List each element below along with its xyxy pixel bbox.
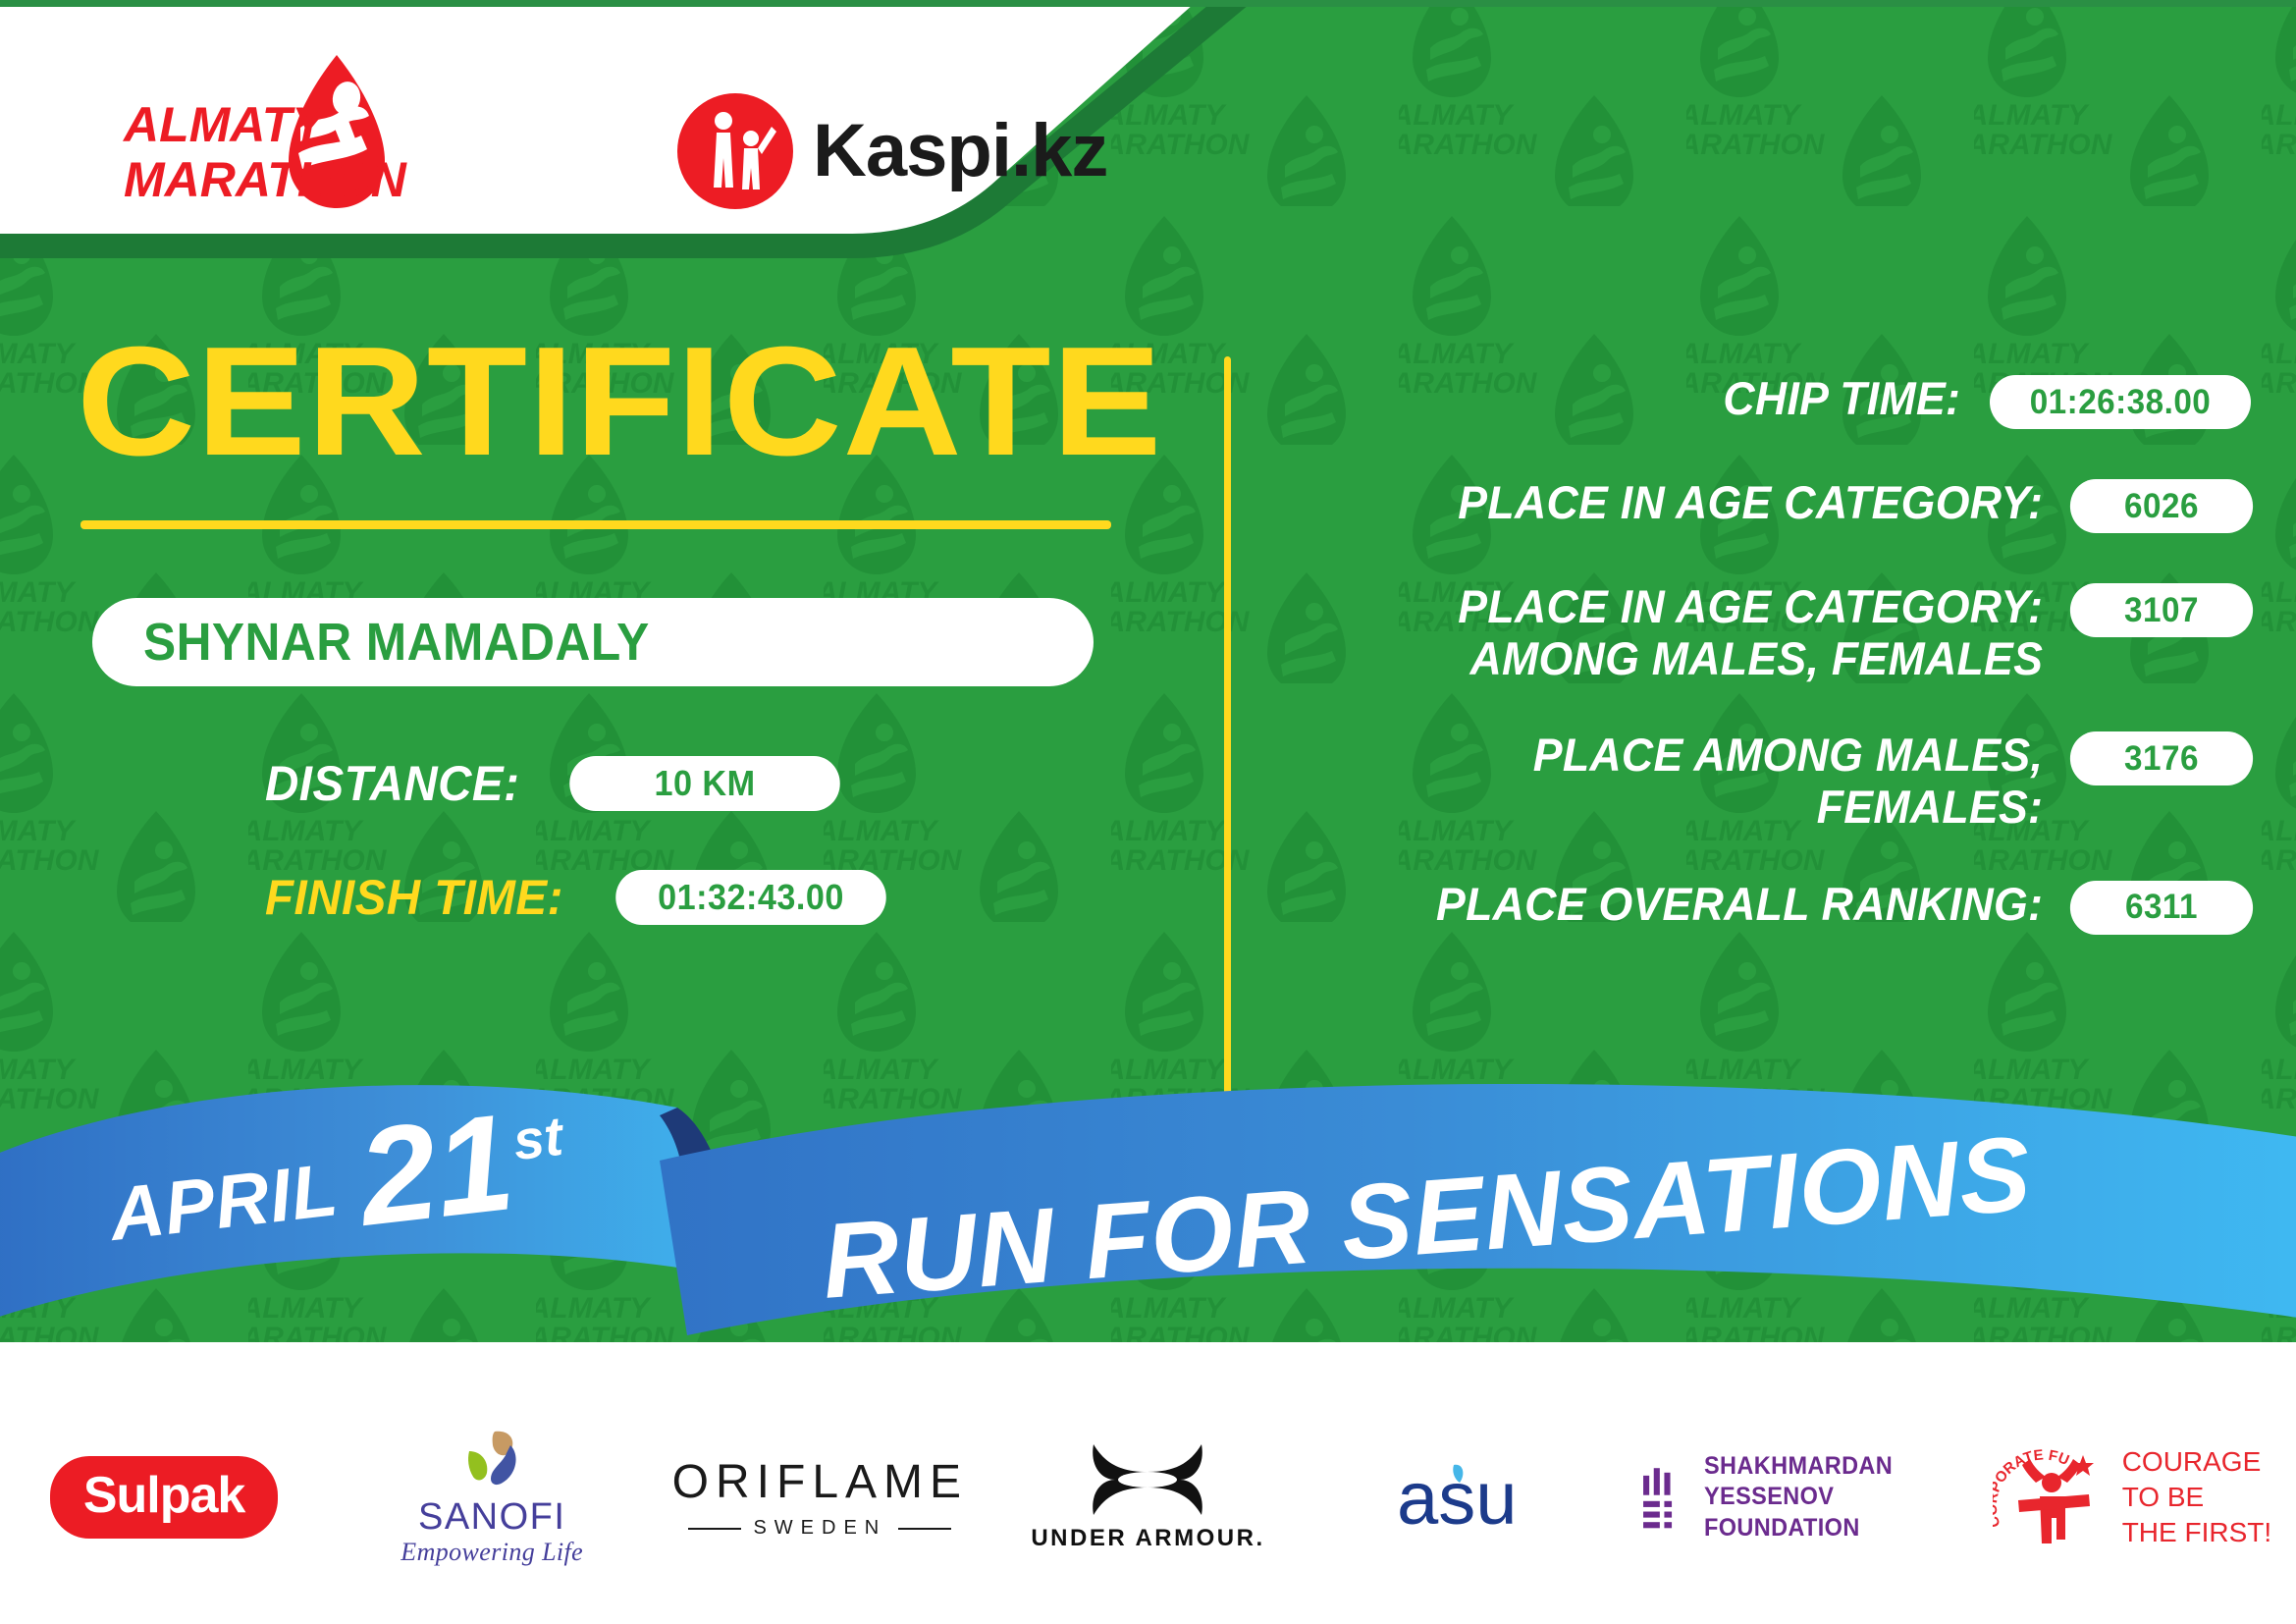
top-accent-strip xyxy=(0,0,2296,7)
distance-label: DISTANCE: xyxy=(265,755,519,812)
sponsor-sulpak: Sulpak xyxy=(0,1424,328,1571)
stat-value: 6311 xyxy=(2070,881,2253,935)
results-stats-panel: CHIP TIME: 01:26:38.00 PLACE IN AGE CATE… xyxy=(1276,373,2258,983)
stat-label: PLACE IN AGE CATEGORY:AMONG MALES, FEMAL… xyxy=(1315,581,2065,684)
stat-value: 01:26:38.00 xyxy=(1990,375,2251,429)
almaty-marathon-logo: ALMATY MARATHON xyxy=(116,47,430,214)
distance-value: 10 KM xyxy=(569,756,840,811)
kaspi-people-icon xyxy=(677,93,793,209)
certificate-page: ALMATY MARATHON xyxy=(0,0,2296,1624)
title-underline xyxy=(80,520,1111,529)
page-title: CERTIFICATE xyxy=(77,324,1275,479)
oriflame-wordmark: ORIFLAME xyxy=(672,1455,968,1509)
sponsor-oriflame: ORIFLAME SWEDEN xyxy=(656,1424,984,1571)
stat-label: PLACE AMONG MALES,FEMALES: xyxy=(1315,730,2065,833)
stat-label: CHIP TIME: xyxy=(1311,373,1983,425)
header-logos: ALMATY MARATHON Kaspi.kz xyxy=(0,0,1178,285)
yessenov-wordmark: SHAKHMARDAN YESSENOVFOUNDATION xyxy=(1704,1451,1952,1543)
sanofi-wordmark: SANOFI xyxy=(400,1498,583,1536)
stat-row-place-overall: PLACE OVERALL RANKING: 6311 xyxy=(1276,879,2258,938)
sponsor-asu: asu xyxy=(1312,1424,1640,1571)
oriflame-subline: SWEDEN xyxy=(753,1517,886,1540)
under-armour-wordmark: UNDER ARMOUR. xyxy=(1031,1525,1264,1552)
stat-value: 6026 xyxy=(2070,479,2253,533)
sponsor-sanofi: SANOFI Empowering Life xyxy=(328,1424,656,1571)
event-day-ordinal: st xyxy=(510,1104,566,1172)
courage-fund-wordmark: COURAGETO BETHE FIRST! xyxy=(2122,1444,2271,1549)
finish-time-value: 01:32:43.00 xyxy=(615,870,886,925)
event-month: APRIL xyxy=(105,1147,342,1258)
oriflame-rule-left xyxy=(688,1528,741,1530)
svg-text:MARATHON: MARATHON xyxy=(124,152,407,207)
courage-fund-icon: CORPORATE FUND xyxy=(1993,1445,2110,1549)
svg-text:ALMATY: ALMATY xyxy=(122,97,329,152)
sanofi-icon xyxy=(455,1430,528,1492)
stat-label: PLACE IN AGE CATEGORY: xyxy=(1315,477,2065,529)
under-armour-icon xyxy=(1084,1442,1211,1517)
sulpak-wordmark: Sulpak xyxy=(50,1456,279,1539)
yessenov-icon xyxy=(1640,1457,1686,1538)
event-day: 21 xyxy=(353,1106,518,1235)
stat-value: 3107 xyxy=(2070,583,2253,637)
sponsor-yessenov-foundation: SHAKHMARDAN YESSENOVFOUNDATION xyxy=(1640,1424,1968,1571)
stat-value: 3176 xyxy=(2070,731,2253,785)
stat-row-place-age-category: PLACE IN AGE CATEGORY: 6026 xyxy=(1276,477,2258,536)
asu-logo: asu xyxy=(1393,1453,1560,1542)
sponsor-courage-fund: CORPORATE FUND COURAGETO BETHE FIRST! xyxy=(1968,1424,2296,1571)
kaspi-wordmark: Kaspi.kz xyxy=(813,114,1107,189)
stat-row-place-among-gender: PLACE AMONG MALES,FEMALES: 3176 xyxy=(1276,730,2258,833)
stat-row-place-age-category-among-gender: PLACE IN AGE CATEGORY:AMONG MALES, FEMAL… xyxy=(1276,581,2258,684)
sponsor-bar: Sulpak SANOFI Empowering Life ORIFLAME xyxy=(0,1404,2296,1591)
kaspi-logo: Kaspi.kz xyxy=(677,93,1107,209)
runner-name-field: SHYNAR MAMADALY xyxy=(92,598,1094,686)
sanofi-tagline: Empowering Life xyxy=(400,1540,583,1565)
certificate-main-left: CERTIFICATE SHYNAR MAMADALY DISTANCE: 10… xyxy=(0,324,1207,926)
stat-row-chip-time: CHIP TIME: 01:26:38.00 xyxy=(1276,373,2258,432)
sponsor-under-armour: UNDER ARMOUR. xyxy=(984,1424,1311,1571)
distance-row: DISTANCE: 10 KM xyxy=(265,755,1207,812)
oriflame-rule-right xyxy=(898,1528,951,1530)
stat-label: PLACE OVERALL RANKING: xyxy=(1315,879,2065,931)
runner-name-value: SHYNAR MAMADALY xyxy=(143,612,650,673)
finish-time-label: FINISH TIME: xyxy=(265,869,563,926)
finish-time-row: FINISH TIME: 01:32:43.00 xyxy=(265,869,1207,926)
column-divider xyxy=(1224,356,1231,1098)
